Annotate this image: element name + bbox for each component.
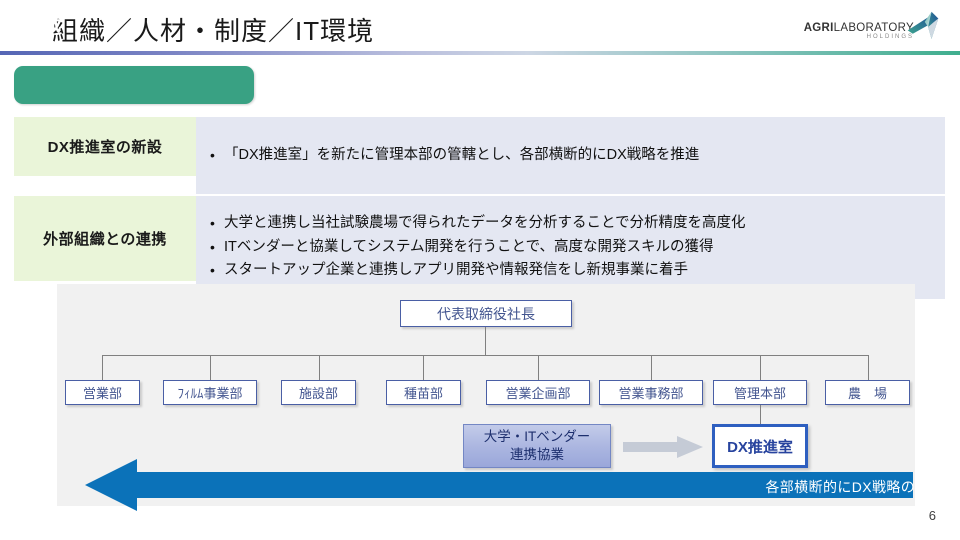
company-logo: AGRILABORATORY HOLDINGS xyxy=(802,8,942,48)
bullet-text: 「DX推進室」を新たに管理本部の管轄とし、各部横断的にDX戦略を推進 xyxy=(224,144,699,167)
org-connector-dx xyxy=(760,405,761,425)
logo-name-bold: AGRI xyxy=(804,22,834,34)
table-row: DX推進室の新設 • 「DX推進室」を新たに管理本部の管轄とし、各部横断的にDX… xyxy=(14,117,945,196)
org-connector-stem xyxy=(485,327,486,355)
bullet-item: • スタートアップ企業と連携しアプリ開発や情報発信をし新規事業に着手 xyxy=(210,259,945,282)
bullet-dot: • xyxy=(210,259,224,282)
page-number: 6 xyxy=(929,508,936,523)
org-connector-drop xyxy=(760,355,761,381)
bullet-text: 大学と連携し当社試験農場で得られたデータを分析することで分析精度を高度化 xyxy=(224,212,746,235)
bullet-item: • 「DX推進室」を新たに管理本部の管轄とし、各部横断的にDX戦略を推進 xyxy=(210,144,945,167)
org-connector-drop xyxy=(423,355,424,381)
org-connector-drop xyxy=(538,355,539,381)
logo-subtitle: HOLDINGS xyxy=(802,34,914,40)
bullet-dot: • xyxy=(210,236,224,259)
bullet-item: • 大学と連携し当社試験農場で得られたデータを分析することで分析精度を高度化 xyxy=(210,212,945,235)
arrow-leaf-logo-mark xyxy=(906,10,940,44)
org-connector-drop xyxy=(868,355,869,381)
org-node-department[interactable]: 種苗部 xyxy=(386,380,461,405)
section-badge-label: 組織 xyxy=(18,8,62,38)
partner-box-line1: 大学・ITベンダー xyxy=(484,428,591,446)
row-header-cell: DX推進室の新設 xyxy=(14,117,196,176)
content-table: DX推進室の新設 • 「DX推進室」を新たに管理本部の管轄とし、各部横断的にDX… xyxy=(14,117,945,299)
org-node-department[interactable]: 営業部 xyxy=(65,380,140,405)
right-arrow-icon xyxy=(623,436,703,458)
header-gradient-rule xyxy=(0,51,960,55)
org-node-department[interactable]: 営業事務部 xyxy=(599,380,703,405)
bullet-text: スタートアップ企業と連携しアプリ開発や情報発信をし新規事業に着手 xyxy=(224,259,688,282)
org-connector-drop xyxy=(210,355,211,381)
org-connector-drop xyxy=(319,355,320,381)
org-connector-drop xyxy=(651,355,652,381)
bullet-item: • ITベンダーと協業してシステム開発を行うことで、高度な開発スキルの獲得 xyxy=(210,236,945,259)
row-header-cell: 外部組織との連携 xyxy=(14,196,196,281)
org-connector-drop xyxy=(102,355,103,381)
banner-caption: 各部横断的にDX戦略の推進 xyxy=(765,477,944,497)
slide-root: 組織／人材・制度／IT環境 AGRILABORATORY HOLDINGS 組織 xyxy=(0,0,960,540)
bullet-dot: • xyxy=(210,212,224,235)
org-node-department[interactable]: 営業企画部 xyxy=(486,380,590,405)
bullet-dot: • xyxy=(210,144,224,167)
logo-name-light: LABORATORY xyxy=(834,22,914,34)
org-node-ceo[interactable]: 代表取締役社長 xyxy=(400,300,572,327)
org-node-department[interactable]: 施設部 xyxy=(281,380,356,405)
org-node-department[interactable]: 農 場 xyxy=(825,380,910,405)
row-body-cell: • 「DX推進室」を新たに管理本部の管轄とし、各部横断的にDX戦略を推進 xyxy=(196,117,945,194)
bullet-text: ITベンダーと協業してシステム開発を行うことで、高度な開発スキルの獲得 xyxy=(224,236,714,259)
logo-wordmark: AGRILABORATORY xyxy=(802,22,914,34)
org-node-department[interactable]: 管理本部 xyxy=(713,380,807,405)
org-node-department[interactable]: ﾌｨﾙﾑ事業部 xyxy=(163,380,257,405)
page-title: 組織／人材・制度／IT環境 xyxy=(52,11,374,48)
org-connector-bus xyxy=(102,355,869,356)
section-badge xyxy=(14,66,254,104)
